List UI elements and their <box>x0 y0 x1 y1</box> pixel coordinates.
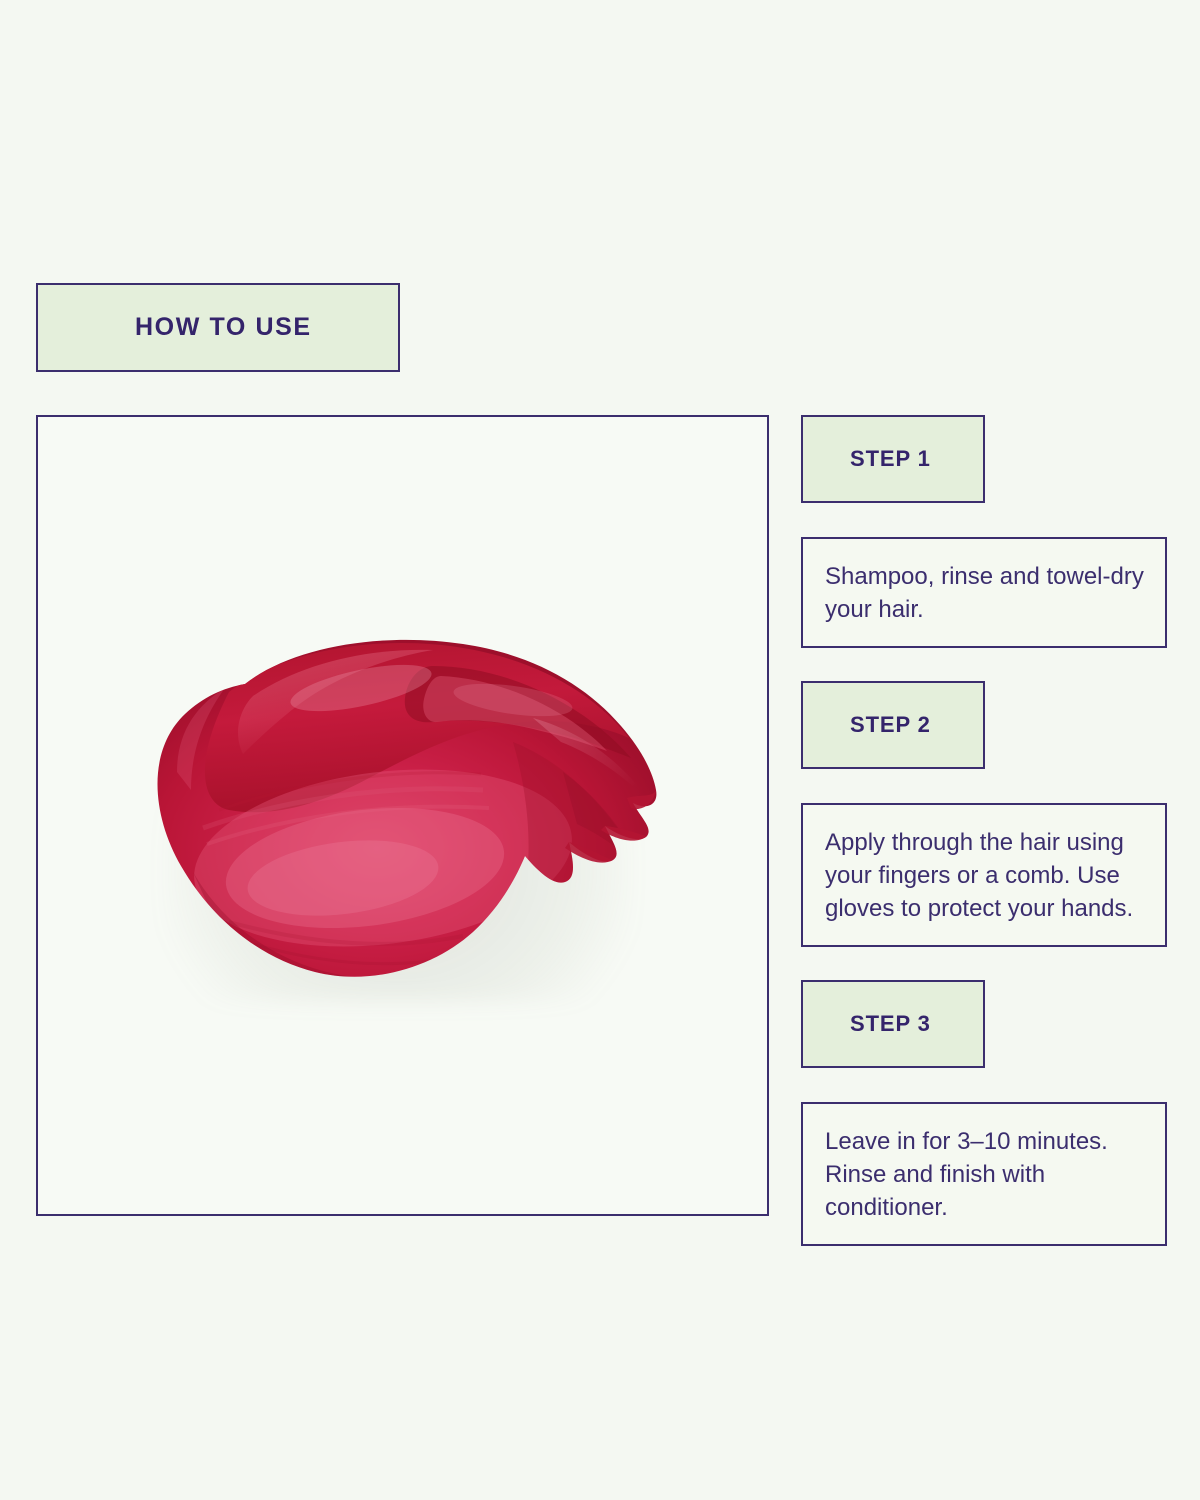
step-badge-2: STEP 2 <box>801 681 985 769</box>
step-badge-label-1: STEP 1 <box>803 446 931 472</box>
hair-colour-swatch-icon <box>133 622 678 1022</box>
spacer <box>801 769 1167 803</box>
step-text-2: Apply through the hair using your finger… <box>801 803 1167 947</box>
product-image-panel <box>36 415 769 1216</box>
step-text-3: Leave in for 3–10 minutes. Rinse and fin… <box>801 1102 1167 1246</box>
step-badge-1: STEP 1 <box>801 415 985 503</box>
spacer <box>801 947 1167 980</box>
step-badge-label-3: STEP 3 <box>803 1011 931 1037</box>
steps-column: STEP 1 Shampoo, rinse and towel-dry your… <box>801 415 1167 1246</box>
spacer <box>801 503 1167 537</box>
spacer <box>801 1068 1167 1102</box>
step-text-1: Shampoo, rinse and towel-dry your hair. <box>801 537 1167 648</box>
step-badge-label-2: STEP 2 <box>803 712 931 738</box>
how-to-use-section: HOW TO USE <box>0 0 1200 1500</box>
page-title: HOW TO USE <box>38 313 312 342</box>
step-badge-3: STEP 3 <box>801 980 985 1068</box>
product-swatch <box>133 622 678 1022</box>
spacer <box>801 648 1167 681</box>
how-to-use-heading-box: HOW TO USE <box>36 283 400 372</box>
